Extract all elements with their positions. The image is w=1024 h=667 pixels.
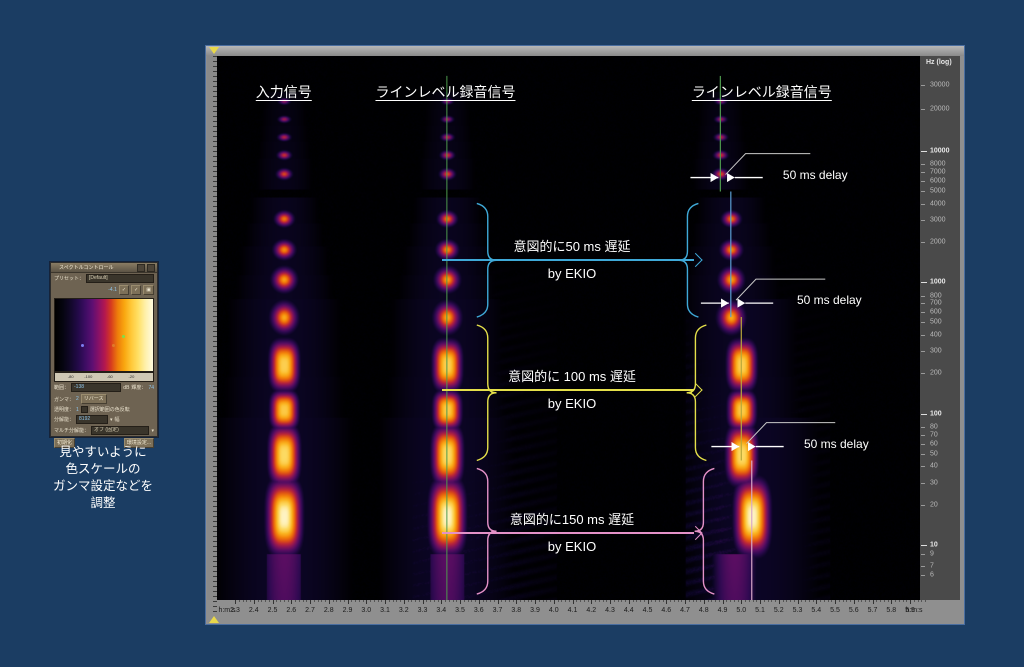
opacity-row[interactable]: 透明度： 1 選択範囲の色反転 [51,405,157,414]
frequency-tick-label: 80 [930,424,938,431]
annotation-delay-50-line2: by EKIO [442,265,702,282]
resolution-select[interactable]: 8192 [76,415,108,424]
frequency-tick-label: 600 [930,308,942,315]
time-tick-label: 3.8 [511,607,521,614]
range-unit: dB [123,385,129,391]
frequency-tick-label: 400 [930,332,942,339]
time-tick-label: 5.9 [905,607,915,614]
frequency-tick-label: 800 [930,292,942,299]
time-tick-label: 2.4 [249,607,259,614]
check-blue-icon[interactable]: ✓ [131,285,141,295]
dialog-caption-line1: 見やすいように [20,444,186,461]
color-map-preview[interactable] [54,298,154,372]
time-tick-label: 5.4 [811,607,821,614]
annotation-delay-150: 意図的に150 ms 遅延 by EKIO [442,511,702,555]
time-tick-label: 3.4 [436,607,446,614]
time-tick-label: 5.0 [736,607,746,614]
dialog-title: スペクトルコントロール [59,264,114,271]
frequency-tick-label: 30 [930,479,938,486]
reverse-button[interactable]: リバース [81,394,107,404]
frequency-tick-label: 10 [930,542,938,549]
time-tick-label: 5.2 [774,607,784,614]
frequency-tick-label: 4000 [930,200,946,207]
preset-row[interactable]: プリセット： [Default] [51,273,157,284]
resolution-label: 分解能： [54,416,74,423]
toolbar-value: -4.1 [108,287,117,293]
preset-label: プリセット： [54,275,84,282]
time-tick-label: 4.8 [699,607,709,614]
preset-select[interactable]: [Default] [86,274,154,283]
column-title-recorded-right: ラインレベル録音信号 [692,82,832,102]
delay-callout-1-label: 50 ms delay [783,168,848,182]
time-tick-label: 3.5 [455,607,465,614]
colormap-handle-green[interactable] [122,335,125,338]
dialog-minimize-icon[interactable] [137,264,145,272]
annotation-delay-100-arrow [442,385,702,395]
scale-tick-3: -20 [129,374,135,379]
time-tick-label: 5.3 [793,607,803,614]
range-row[interactable]: 範囲： -138 dB 輝度： 74 [51,382,157,393]
palette-icon[interactable]: ▣ [143,285,154,295]
time-tick-label: 3.9 [530,607,540,614]
multires-row[interactable]: マルチ分解能： オフ (固定) ▾ [51,425,157,436]
time-tick-label: 2.9 [343,607,353,614]
time-tick-label: 2.5 [268,607,278,614]
scale-tick-2: -60 [107,374,113,379]
frequency-tick-label: 700 [930,300,942,307]
time-tick-label: 5.8 [886,607,896,614]
frequency-tick-label: 20 [930,501,938,508]
annotation-delay-150-line2: by EKIO [442,538,702,555]
annotation-delay-50-line1: 意図的に50 ms 遅延 [442,238,702,255]
frequency-tick-label: 500 [930,319,942,326]
annotation-delay-100-line1: 意図的に 100 ms 遅延 [442,368,702,385]
annotation-delay-150-line1: 意図的に150 ms 遅延 [442,511,702,528]
time-tick-label: 2.6 [286,607,296,614]
dialog-caption: 見やすいように 色スケールの ガンマ設定などを 調整 [20,444,186,512]
time-tick-label: 4.9 [718,607,728,614]
invert-label: 選択範囲の色反転 [90,406,130,413]
annotation-delay-50: 意図的に50 ms 遅延 by EKIO [442,238,702,282]
time-tick-label: 3.7 [493,607,503,614]
gamma-row[interactable]: ガンマ： 2 リバース [51,393,157,405]
dialog-caption-line4: 調整 [20,495,186,512]
window-title-bar[interactable] [206,46,964,56]
range-input[interactable]: -138 [71,383,121,392]
time-tick-label: 5.5 [830,607,840,614]
scale-tick-0: -80 [68,374,74,379]
time-tick-label: 5.6 [849,607,859,614]
time-tick-label: 3.0 [361,607,371,614]
time-tick-label: 4.6 [661,607,671,614]
time-tick-label: 3.1 [380,607,390,614]
time-tick-label: 4.1 [568,607,578,614]
frequency-tick-label: 10000 [930,147,949,154]
left-ruler[interactable] [207,56,217,600]
frequency-tick-label: 40 [930,463,938,470]
colormap-handle-purple[interactable] [81,344,84,347]
frequency-tick-label: 30000 [930,81,949,88]
frequency-axis-ruler[interactable]: Hz (log) 3000020000100008000700060005000… [920,56,960,600]
invert-checkbox[interactable] [81,406,88,413]
multires-label: マルチ分解能： [54,427,89,434]
frequency-tick-label: 7 [930,563,934,570]
colormap-handle-orange[interactable] [112,344,115,347]
color-scale-bar: -80 -100 -60 -20 [54,372,154,382]
frequency-tick-label: 9 [930,551,934,558]
frequency-tick-label: 6 [930,571,934,578]
column-title-recorded-middle: ラインレベル録音信号 [375,82,515,102]
dialog-toolbar[interactable]: -4.1 ✓ ✓ ▣ [51,284,157,296]
column-title-input: 入力信号 [256,82,312,102]
frequency-tick-label: 5000 [930,188,946,195]
frequency-tick-label: 2000 [930,239,946,246]
scale-tick-1: -100 [84,374,92,379]
delay-callout-3-label: 50 ms delay [804,437,869,451]
dialog-title-bar[interactable]: スペクトルコントロール [51,263,157,273]
dialog-caption-line2: 色スケールの [20,461,186,478]
annotation-delay-150-arrow [442,528,702,538]
frequency-tick-label: 100 [930,410,942,417]
resolution-suffix: 幅 [115,416,120,423]
time-tick-label: 2.3 [230,607,240,614]
gamma-label: ガンマ： [54,396,74,403]
brightness-label: 輝度： [131,384,146,391]
delay-callout-2-label: 50 ms delay [797,293,862,307]
dialog-caption-line3: ガンマ設定などを [20,478,186,495]
dialog-window-buttons[interactable] [136,264,155,274]
opacity-label: 透明度： [54,406,74,413]
frequency-tick-label: 50 [930,451,938,458]
frequency-tick-label: 20000 [930,105,949,112]
resolution-row[interactable]: 分解能： 8192 ▾ 幅 [51,414,157,425]
time-tick-label: 4.7 [680,607,690,614]
frequency-tick-label: 200 [930,370,942,377]
gamma-value[interactable]: 2 [76,396,79,402]
marker-handle-top-left[interactable] [209,47,219,54]
time-tick-label: 4.5 [643,607,653,614]
frequency-axis-header: Hz (log) [926,59,952,66]
frequency-tick-label: 60 [930,440,938,447]
frequency-tick-label: 70 [930,431,938,438]
time-tick-label: 4.0 [549,607,559,614]
annotation-delay-100-line2: by EKIO [442,395,702,412]
frequency-tick-label: 7000 [930,168,946,175]
brightness-value[interactable]: 74 [148,385,154,391]
spectrogram-plot[interactable]: 入力信号 ラインレベル録音信号 ラインレベル録音信号 意図的に50 ms 遅延 … [217,56,920,600]
time-tick-label: 3.3 [418,607,428,614]
dialog-close-icon[interactable] [147,264,155,272]
time-tick-label: 4.3 [605,607,615,614]
check-green-icon[interactable]: ✓ [119,285,129,295]
time-axis-ruler[interactable]: h:m:s h:m:s 2.32.42.52.62.72.82.93.03.13… [217,600,920,620]
range-label: 範囲： [54,384,69,391]
time-tick-label: 5.7 [868,607,878,614]
frequency-tick-label: 1000 [930,278,946,285]
time-tick-label: 5.1 [755,607,765,614]
time-tick-label: 3.6 [474,607,484,614]
multires-select[interactable]: オフ (固定) [91,426,149,435]
frequency-tick-label: 6000 [930,177,946,184]
time-tick-label: 3.2 [399,607,409,614]
opacity-value[interactable]: 1 [76,407,79,413]
frequency-tick-label: 3000 [930,216,946,223]
frequency-tick-label: 300 [930,347,942,354]
time-tick-label: 2.7 [305,607,315,614]
time-tick-label: 2.8 [324,607,334,614]
annotation-delay-100: 意図的に 100 ms 遅延 by EKIO [442,368,702,412]
annotation-delay-50-arrow [442,255,702,265]
frequency-tick-label: 8000 [930,161,946,168]
resolution-chevron-down-icon[interactable]: ▾ [110,417,113,423]
time-tick-label: 4.4 [624,607,634,614]
multires-chevron-down-icon[interactable]: ▾ [151,428,154,434]
time-tick-label: 4.2 [586,607,596,614]
spectrogram-window[interactable]: 入力信号 ラインレベル録音信号 ラインレベル録音信号 意図的に50 ms 遅延 … [205,45,965,625]
spectrum-control-dialog[interactable]: スペクトルコントロール プリセット： [Default] -4.1 ✓ ✓ ▣ … [50,262,158,437]
